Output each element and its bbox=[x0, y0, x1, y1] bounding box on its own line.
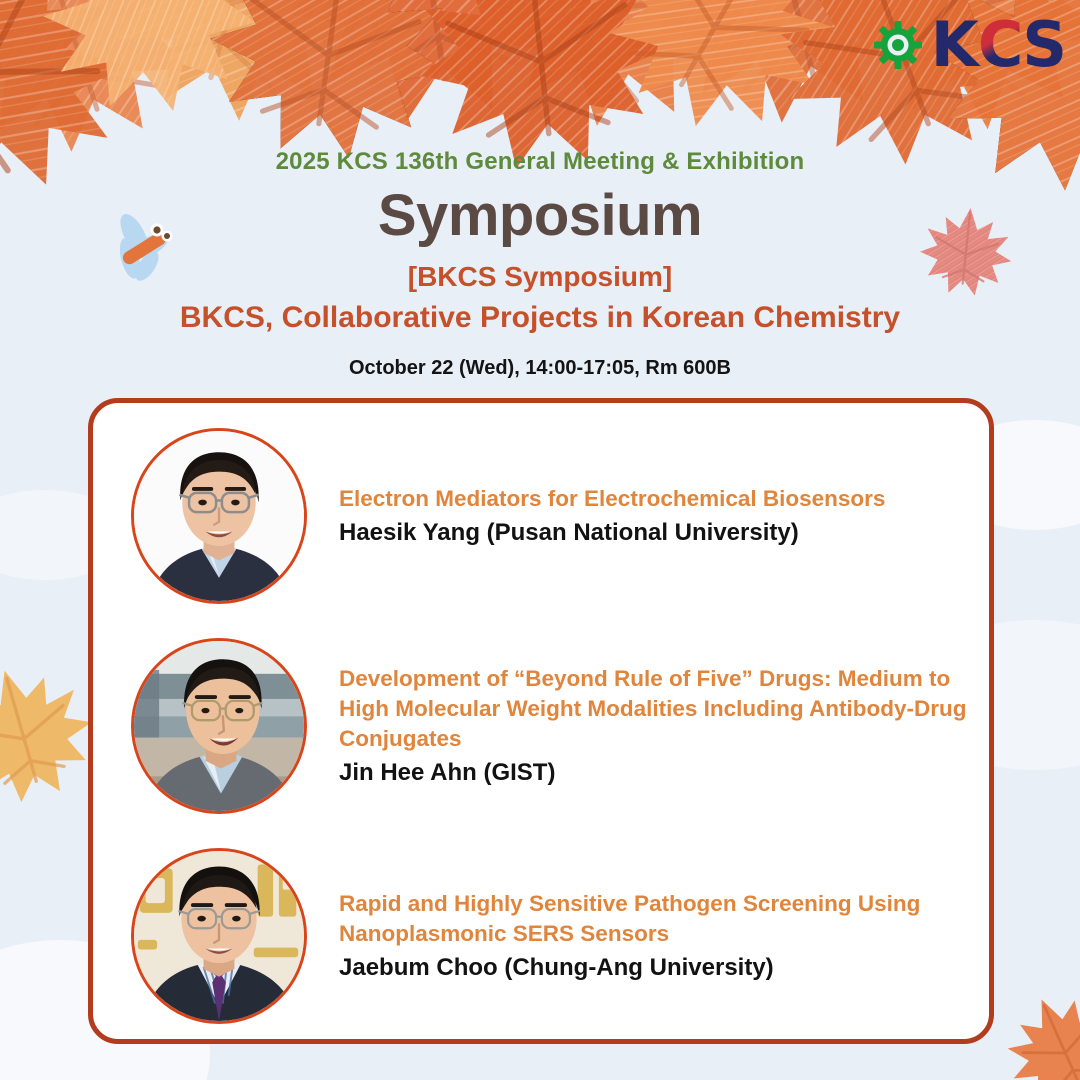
speaker-row: Development of “Beyond Rule of Five” Dru… bbox=[93, 621, 989, 831]
session-datetime-room: October 22 (Wed), 14:00-17:05, Rm 600B bbox=[0, 357, 1080, 380]
talk-title: Electron Mediators for Electrochemical B… bbox=[339, 484, 975, 514]
talk-details: Development of “Beyond Rule of Five” Dru… bbox=[307, 664, 989, 788]
speaker-name-affiliation: Haesik Yang (Pusan National University) bbox=[339, 517, 975, 548]
decor-leaf-bottom-right bbox=[1000, 986, 1080, 1080]
speaker-list-card: Electron Mediators for Electrochemical B… bbox=[88, 398, 994, 1044]
talk-details: Rapid and Highly Sensitive Pathogen Scre… bbox=[307, 889, 989, 983]
avatar bbox=[131, 848, 307, 1024]
talk-title: Development of “Beyond Rule of Five” Dru… bbox=[339, 664, 975, 754]
kcs-letter-s: S bbox=[1022, 14, 1066, 76]
page-title: Symposium bbox=[0, 186, 1080, 247]
poster-canvas: K C S bbox=[0, 0, 1080, 1080]
speaker-row: Rapid and Highly Sensitive Pathogen Scre… bbox=[93, 831, 989, 1041]
symposium-bracket-label: [BKCS Symposium] bbox=[0, 261, 1080, 293]
kcs-logo: K C S bbox=[873, 14, 1066, 76]
decor-leaf-left-mid bbox=[0, 660, 98, 810]
session-title: BKCS, Collaborative Projects in Korean C… bbox=[0, 301, 1080, 335]
speaker-name-affiliation: Jin Hee Ahn (GIST) bbox=[339, 757, 975, 788]
speaker-name-affiliation: Jaebum Choo (Chung-Ang University) bbox=[339, 952, 975, 983]
avatar bbox=[131, 638, 307, 814]
kcs-wordmark: K C S bbox=[931, 14, 1066, 76]
kcs-gear-emblem-icon bbox=[873, 20, 923, 70]
kcs-letter-c: C bbox=[978, 8, 1023, 81]
kcs-letter-k: K bbox=[931, 14, 978, 76]
speaker-row: Electron Mediators for Electrochemical B… bbox=[93, 411, 989, 621]
talk-details: Electron Mediators for Electrochemical B… bbox=[307, 484, 989, 548]
talk-title: Rapid and Highly Sensitive Pathogen Scre… bbox=[339, 889, 975, 949]
avatar bbox=[131, 428, 307, 604]
meeting-eyebrow: 2025 KCS 136th General Meeting & Exhibit… bbox=[0, 148, 1080, 176]
